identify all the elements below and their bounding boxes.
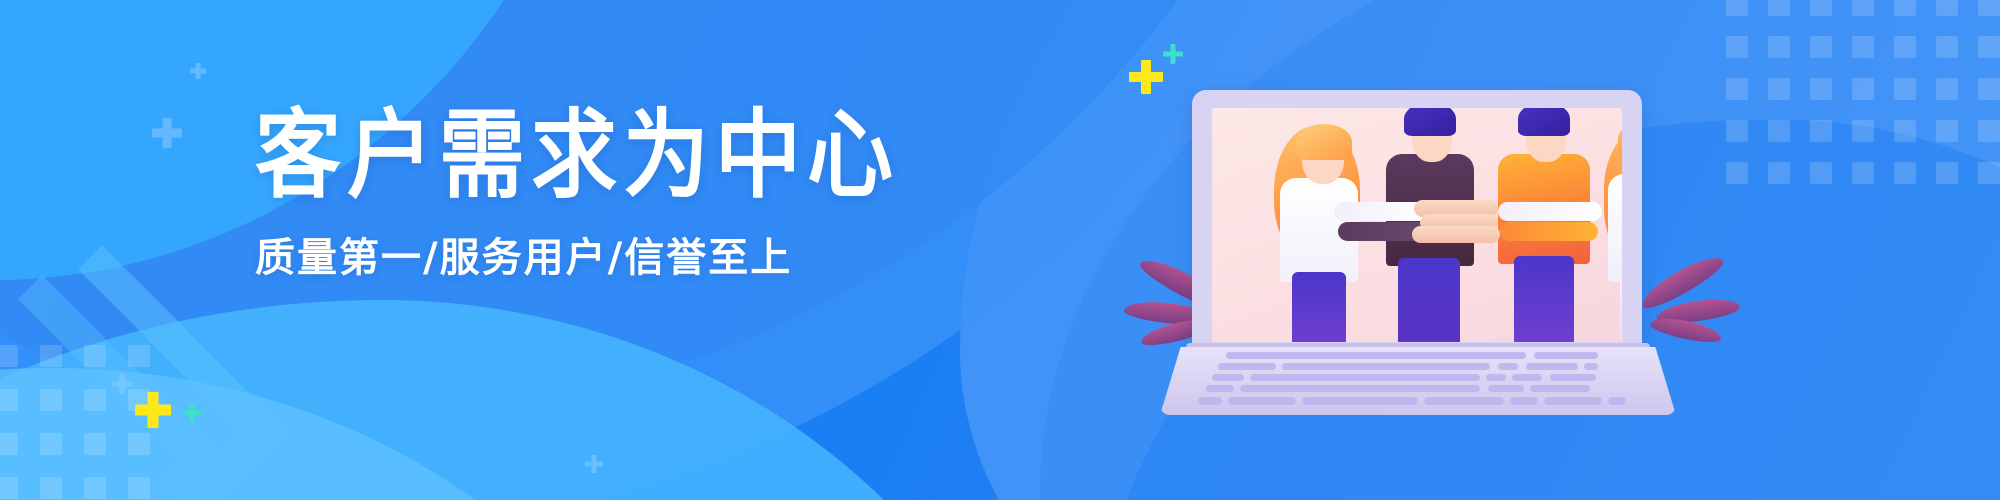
promo-banner: 客户需求为中心 质量第一/服务用户/信誉至上 xyxy=(0,0,2000,500)
keyboard-key xyxy=(1228,397,1296,405)
keyboard-key xyxy=(1498,363,1518,370)
banner-copy: 客户需求为中心 质量第一/服务用户/信誉至上 xyxy=(255,108,1015,278)
arm xyxy=(1500,222,1598,241)
keyboard-key xyxy=(1488,385,1524,392)
keyboard-key xyxy=(1198,397,1222,405)
banner-headline: 客户需求为中心 xyxy=(255,108,1015,204)
laptop-illustration xyxy=(1150,55,1710,455)
hand xyxy=(1412,226,1500,243)
plus-sparkle-icon xyxy=(152,118,182,148)
keyboard-key xyxy=(1226,352,1526,359)
keyboard-key xyxy=(1530,385,1590,392)
keyboard-key xyxy=(1486,374,1506,381)
keyboard-key xyxy=(1512,374,1542,381)
keyboard-key xyxy=(1550,374,1596,381)
legs xyxy=(1620,272,1622,342)
keyboard-key xyxy=(1534,352,1598,359)
hair-front xyxy=(1518,108,1570,136)
arm xyxy=(1498,202,1602,221)
laptop-base xyxy=(1160,347,1676,415)
keyboard-key xyxy=(1424,397,1504,405)
keyboard-key xyxy=(1510,397,1538,405)
keyboard-key xyxy=(1218,363,1276,370)
plus-sparkle-icon xyxy=(135,392,171,428)
hair-front xyxy=(1618,122,1622,156)
keyboard-key xyxy=(1212,374,1244,381)
square-grid-bottomleft xyxy=(0,345,150,499)
plus-sparkle-icon xyxy=(585,455,603,473)
keyboard-key xyxy=(1250,374,1480,381)
legs xyxy=(1514,256,1574,342)
keyboard-key xyxy=(1584,363,1598,370)
plus-sparkle-icon xyxy=(183,404,201,422)
keyboard-key xyxy=(1282,363,1490,370)
keyboard-key xyxy=(1206,385,1234,392)
plus-sparkle-icon xyxy=(190,63,206,79)
banner-subheadline: 质量第一/服务用户/信誉至上 xyxy=(255,238,1015,278)
square-grid-topright xyxy=(1726,0,2000,184)
legs xyxy=(1398,258,1460,342)
keyboard-key xyxy=(1302,397,1418,405)
legs xyxy=(1292,272,1346,342)
laptop-screen xyxy=(1212,108,1622,342)
outfit xyxy=(1608,174,1622,282)
keyboard-key xyxy=(1608,397,1626,405)
hair-front xyxy=(1404,108,1456,136)
plus-sparkle-icon xyxy=(112,374,132,394)
joined-hands xyxy=(1408,200,1520,246)
laptop-lid xyxy=(1192,90,1642,350)
keyboard-key xyxy=(1240,385,1480,392)
hair-front xyxy=(1296,124,1352,160)
keyboard-key xyxy=(1544,397,1602,405)
keyboard-key xyxy=(1526,363,1578,370)
